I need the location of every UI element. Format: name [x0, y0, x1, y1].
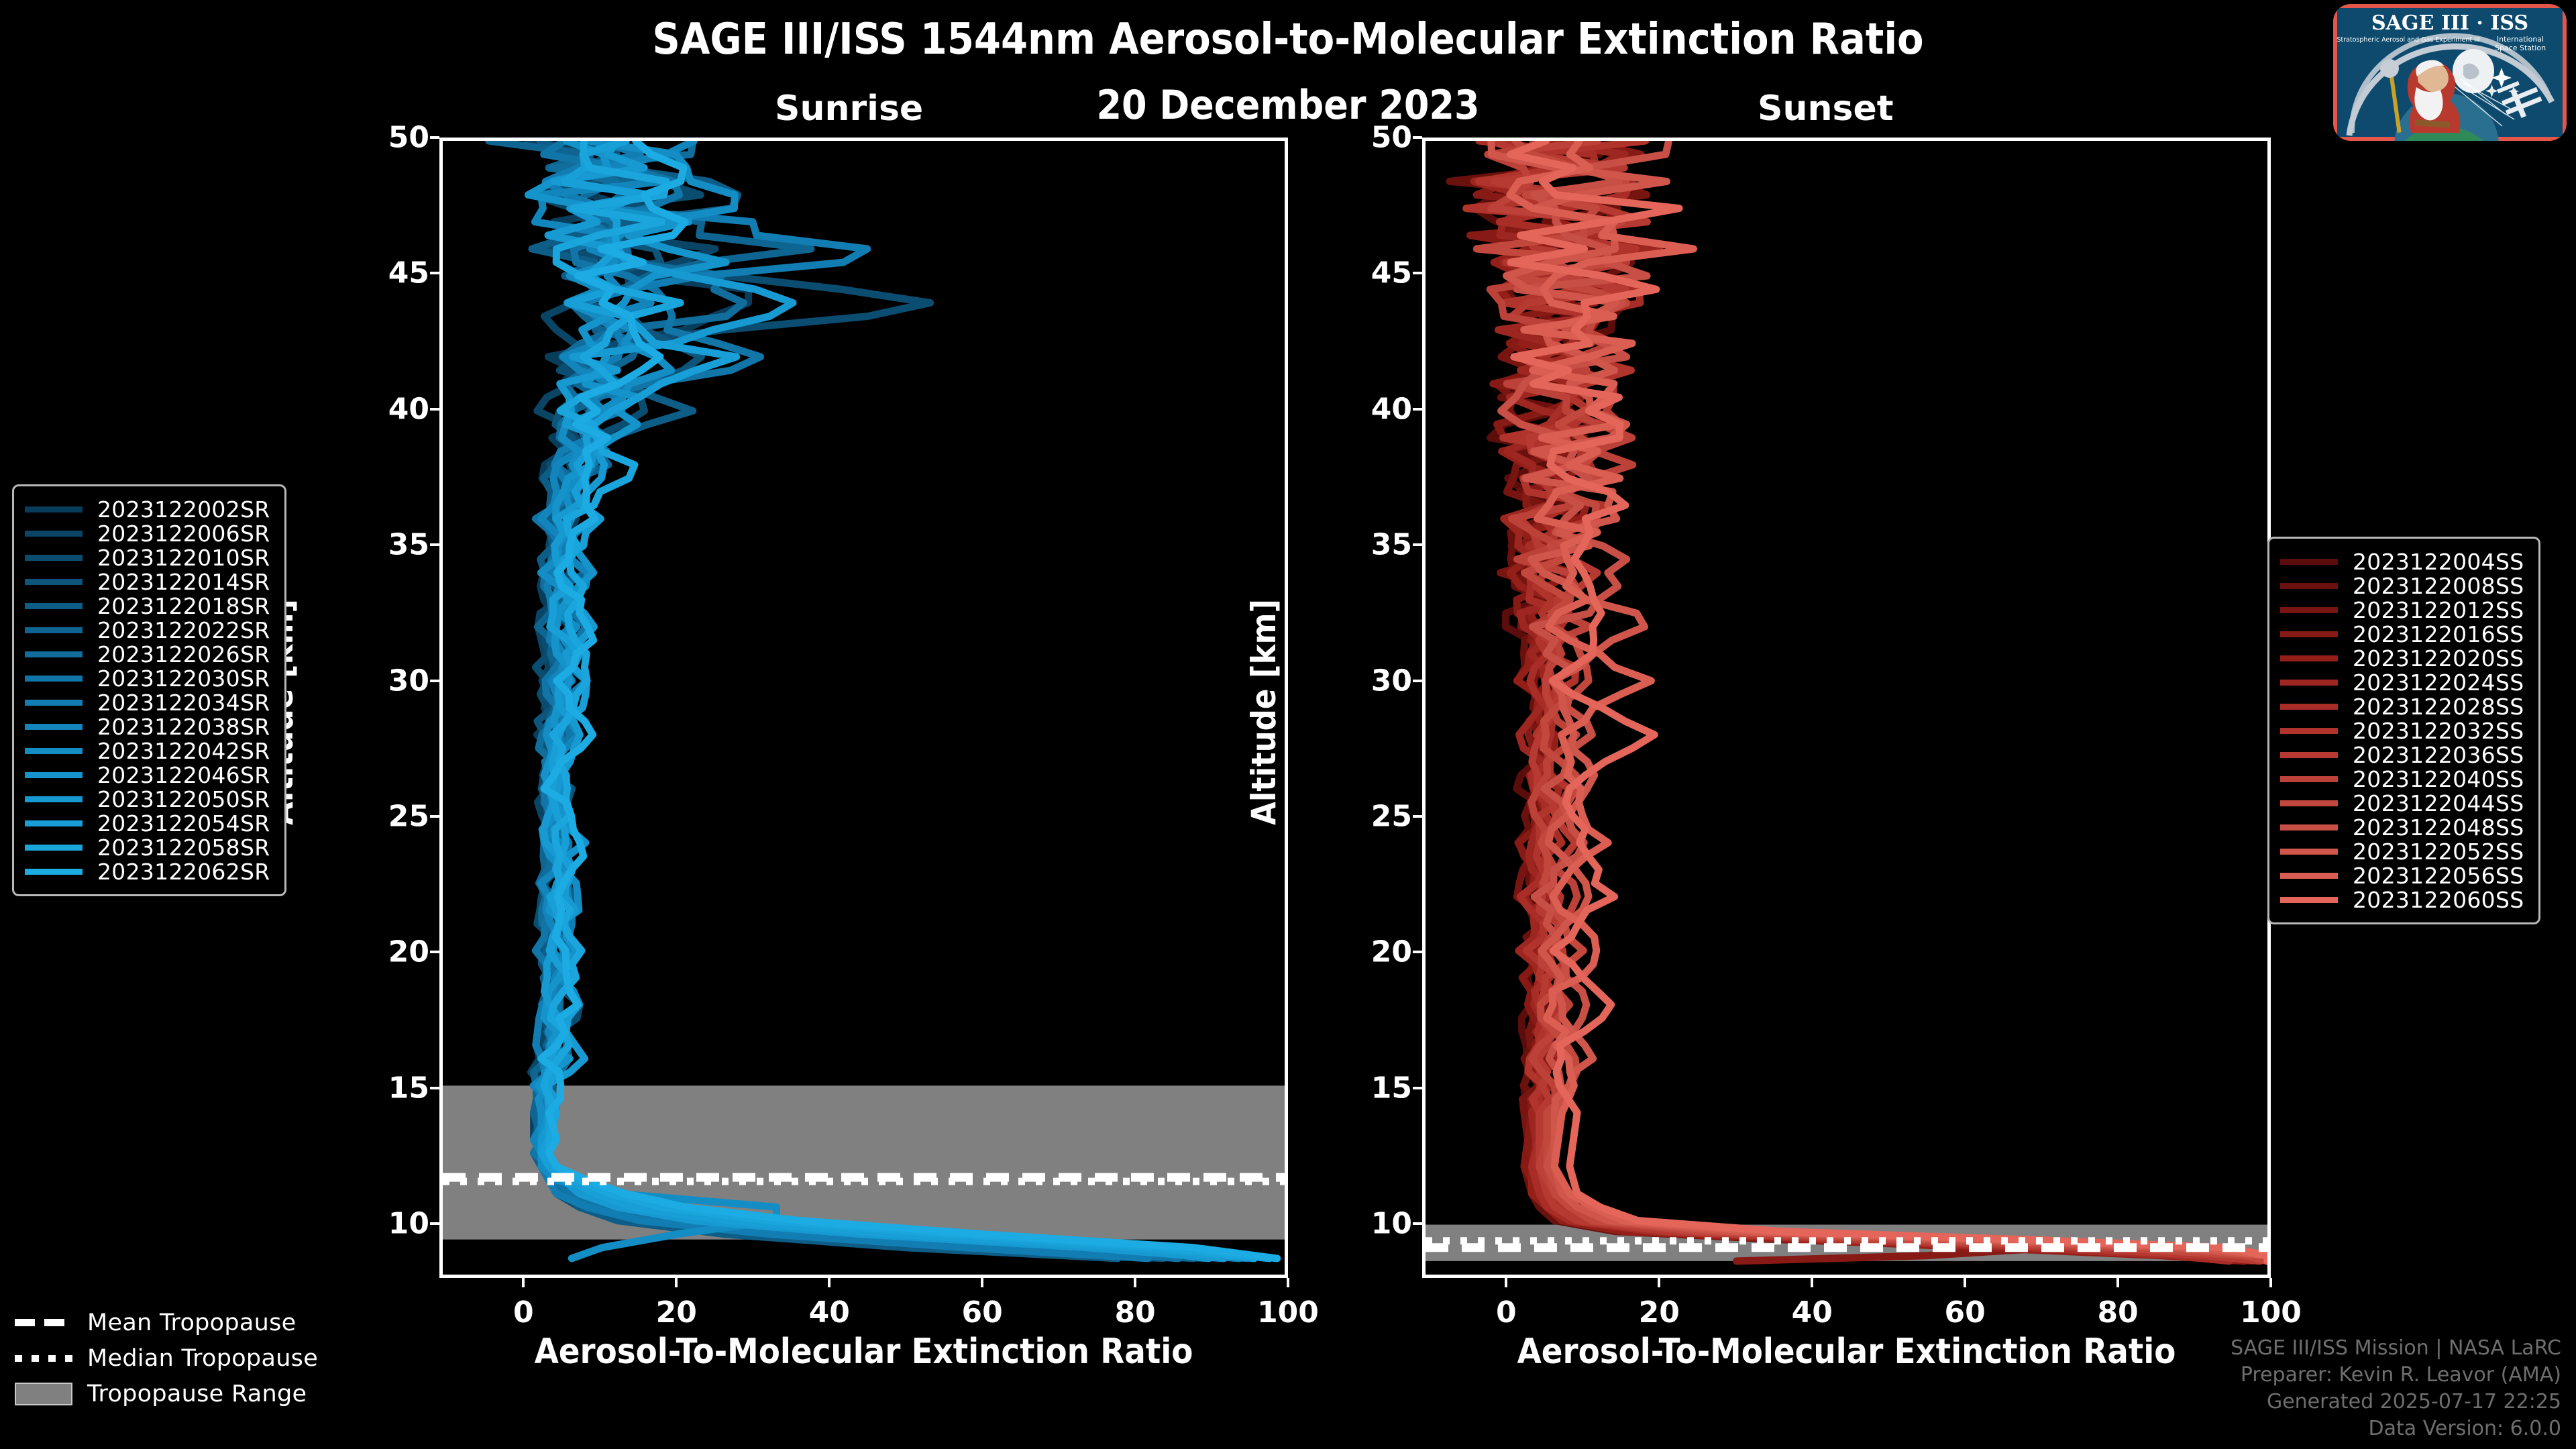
legend-item-label: 2023122044SS — [2353, 790, 2524, 816]
xtick-mark — [2269, 1278, 2272, 1287]
legend-color-swatch — [25, 796, 83, 802]
legend-color-swatch — [25, 603, 83, 609]
ytick-mark — [430, 815, 439, 818]
legend-sunrise-item[interactable]: 2023122030SR — [25, 666, 270, 690]
legend-item-label: 2023122060SS — [2353, 887, 2524, 913]
legend-sunset-item[interactable]: 2023122024SS — [2280, 670, 2524, 694]
legend-tropopause-item: Mean Tropopause — [15, 1305, 318, 1340]
ytick-label: 50 — [1348, 121, 1412, 155]
xaxis-title-sunset: Aerosol-To-Molecular Extinction Ratio — [1422, 1332, 2271, 1372]
legend-color-swatch — [25, 700, 83, 706]
xtick-label: 20 — [1639, 1295, 1680, 1330]
legend-sunset[interactable]: 2023122004SS2023122008SS2023122012SS2023… — [2267, 537, 2540, 924]
xtick-label: 80 — [1114, 1295, 1155, 1330]
legend-color-swatch — [2280, 728, 2338, 734]
xtick-mark — [522, 1278, 525, 1287]
legend-item-label: 2023122028SS — [2353, 694, 2524, 720]
ytick-label: 30 — [1348, 663, 1412, 698]
legend-sunrise-item[interactable]: 2023122058SR — [25, 835, 270, 859]
xtick-label: 80 — [2097, 1295, 2138, 1330]
ytick-label: 20 — [1348, 935, 1412, 969]
panel-label-sunrise: Sunrise — [775, 89, 923, 129]
legend-sunset-item[interactable]: 2023122052SS — [2280, 839, 2524, 863]
legend-color-swatch — [2280, 849, 2338, 855]
legend-item-label: 2023122020SS — [2353, 645, 2524, 672]
legend-color-swatch — [2280, 800, 2338, 806]
ytick-mark — [1413, 951, 1422, 953]
legend-item-label: 2023122050SR — [97, 786, 270, 812]
ytick-label: 40 — [1348, 392, 1412, 426]
ytick-label: 35 — [366, 528, 429, 562]
legend-color-swatch — [2280, 776, 2338, 782]
legend-color-swatch — [25, 724, 83, 730]
legend-tropopause: Mean TropopauseMedian TropopauseTropopau… — [15, 1305, 318, 1411]
ytick-label: 15 — [1348, 1071, 1412, 1105]
legend-sunrise-item[interactable]: 2023122014SR — [25, 570, 270, 594]
ytick-mark — [430, 1087, 439, 1089]
legend-color-swatch — [25, 748, 83, 754]
legend-box-swatch — [15, 1383, 72, 1405]
xtick-mark — [1811, 1278, 1813, 1287]
xtick-label: 20 — [656, 1295, 697, 1330]
legend-item-label: 2023122010SR — [97, 545, 270, 571]
legend-item-label: 2023122022SR — [97, 617, 270, 643]
legend-color-swatch — [25, 579, 83, 585]
legend-item-label: 2023122030SR — [97, 665, 270, 692]
ytick-mark — [430, 680, 439, 682]
xtick-label: 0 — [513, 1295, 534, 1330]
xtick-mark — [1505, 1278, 1507, 1287]
legend-color-swatch — [25, 869, 83, 875]
xtick-label: 0 — [1496, 1295, 1517, 1330]
legend-item-label: 2023122042SR — [97, 738, 270, 764]
legend-color-swatch — [25, 676, 83, 682]
ytick-mark — [430, 136, 439, 139]
legend-sunset-item[interactable]: 2023122012SS — [2280, 598, 2524, 622]
legend-item-label: 2023122040SS — [2353, 766, 2524, 792]
ytick-mark — [1413, 272, 1422, 274]
legend-sunset-item[interactable]: 2023122028SS — [2280, 694, 2524, 718]
legend-sunset-item[interactable]: 2023122036SS — [2280, 743, 2524, 767]
page-title: SAGE III/ISS 1544nm Aerosol-to-Molecular… — [0, 15, 2576, 64]
legend-sunset-item[interactable]: 2023122044SS — [2280, 791, 2524, 815]
legend-sunrise-item[interactable]: 2023122042SR — [25, 739, 270, 763]
plot-area-sunset — [1422, 138, 2271, 1278]
legend-item-label: 2023122024SS — [2353, 669, 2524, 696]
legend-item-label: 2023122038SR — [97, 714, 270, 740]
legend-color-swatch — [2280, 873, 2338, 879]
legend-item-label: 2023122032SS — [2353, 718, 2524, 744]
legend-sunrise[interactable]: 2023122002SR2023122006SR2023122010SR2023… — [12, 484, 286, 896]
footer-line-generated: Generated 2025-07-17 22:25 — [2231, 1389, 2561, 1415]
legend-item-label: 2023122012SS — [2353, 597, 2524, 623]
legend-sunrise-item[interactable]: 2023122034SR — [25, 690, 270, 714]
xtick-label: 100 — [1257, 1295, 1319, 1330]
legend-sunrise-item[interactable]: 2023122006SR — [25, 521, 270, 545]
xtick-mark — [1134, 1278, 1136, 1287]
xtick-mark — [675, 1278, 678, 1287]
ytick-label: 35 — [1348, 528, 1412, 562]
legend-item-label: 2023122008SS — [2353, 573, 2524, 599]
xtick-label: 40 — [1792, 1295, 1833, 1330]
legend-item-label: 2023122052SS — [2353, 839, 2524, 865]
ytick-label: 45 — [1348, 256, 1412, 290]
legend-item-label: 2023122016SS — [2353, 621, 2524, 647]
legend-sunrise-item[interactable]: 2023122046SR — [25, 763, 270, 787]
legend-item-label: Mean Tropopause — [87, 1309, 297, 1336]
legend-item-label: 2023122062SR — [97, 859, 270, 885]
ytick-mark — [1413, 408, 1422, 411]
legend-color-swatch — [2280, 704, 2338, 710]
legend-tropopause-item: Tropopause Range — [15, 1376, 318, 1411]
legend-sunrise-item[interactable]: 2023122026SR — [25, 642, 270, 666]
ytick-label: 10 — [1348, 1207, 1412, 1241]
footer-line-mission: SAGE III/ISS Mission | NASA LaRC — [2231, 1335, 2561, 1362]
xtick-mark — [1287, 1278, 1289, 1287]
legend-sunrise-item[interactable]: 2023122010SR — [25, 545, 270, 570]
legend-sunrise-item[interactable]: 2023122022SR — [25, 618, 270, 642]
legend-sunrise-item[interactable]: 2023122038SR — [25, 714, 270, 739]
xtick-label: 100 — [2240, 1295, 2302, 1330]
ytick-label: 15 — [366, 1071, 429, 1105]
legend-color-swatch — [25, 627, 83, 633]
ytick-label: 25 — [1348, 799, 1412, 833]
legend-color-swatch — [25, 651, 83, 657]
legend-color-swatch — [25, 531, 83, 537]
xtick-mark — [2116, 1278, 2119, 1287]
legend-color-swatch — [2280, 655, 2338, 661]
legend-color-swatch — [25, 555, 83, 561]
ytick-mark — [430, 408, 439, 411]
legend-item-label: 2023122006SR — [97, 521, 270, 547]
legend-color-swatch — [25, 820, 83, 826]
legend-sunset-item[interactable]: 2023122032SS — [2280, 718, 2524, 743]
legend-item-label: 2023122026SR — [97, 641, 270, 667]
ytick-mark — [1413, 136, 1422, 139]
legend-item-label: 2023122058SR — [97, 835, 270, 861]
ytick-label: 45 — [366, 256, 429, 290]
legend-item-label: 2023122054SR — [97, 810, 270, 837]
ytick-mark — [1413, 680, 1422, 682]
yaxis-title-sunset: Altitude [km] — [1244, 599, 1283, 825]
legend-dashed-swatch — [15, 1319, 72, 1326]
svg-text:International: International — [2497, 35, 2544, 44]
legend-color-swatch — [25, 772, 83, 778]
ytick-mark — [1413, 543, 1422, 546]
legend-sunrise-item[interactable]: 2023122054SR — [25, 811, 270, 835]
legend-sunrise-item[interactable]: 2023122002SR — [25, 497, 270, 521]
plot-area-sunrise — [439, 138, 1288, 1278]
legend-dotted-swatch — [15, 1355, 72, 1362]
tropopause-range-band — [443, 1085, 1285, 1239]
legend-sunrise-item[interactable]: 2023122018SR — [25, 594, 270, 618]
legend-sunset-item[interactable]: 2023122048SS — [2280, 815, 2524, 839]
legend-sunset-item[interactable]: 2023122004SS — [2280, 549, 2524, 574]
sage-iii-iss-mission-logo: SAGE III · ISS Stratospheric Aerosol and… — [2329, 1, 2571, 142]
xtick-mark — [1964, 1278, 1966, 1287]
ytick-mark — [430, 1222, 439, 1225]
legend-item-label: 2023122034SR — [97, 690, 270, 716]
legend-sunset-item[interactable]: 2023122020SS — [2280, 646, 2524, 670]
legend-color-swatch — [2280, 631, 2338, 637]
legend-item-label: 2023122046SR — [97, 762, 270, 788]
legend-sunrise-item[interactable]: 2023122050SR — [25, 787, 270, 811]
legend-color-swatch — [2280, 824, 2338, 830]
legend-item-label: 2023122014SR — [97, 569, 270, 595]
legend-sunset-item[interactable]: 2023122056SS — [2280, 863, 2524, 888]
profile-line — [1501, 141, 2267, 1261]
legend-sunrise-item[interactable]: 2023122062SR — [25, 859, 270, 883]
xtick-label: 60 — [962, 1295, 1003, 1330]
logo-title: SAGE III · ISS — [2371, 11, 2528, 35]
legend-color-swatch — [25, 506, 83, 513]
legend-item-label: 2023122004SS — [2353, 549, 2524, 575]
legend-tropopause-item: Median Tropopause — [15, 1340, 318, 1376]
legend-item-label: 2023122002SR — [97, 496, 270, 523]
legend-item-label: Tropopause Range — [87, 1381, 307, 1407]
xaxis-title-sunrise: Aerosol-To-Molecular Extinction Ratio — [439, 1332, 1288, 1372]
ytick-label: 20 — [366, 935, 429, 969]
legend-color-swatch — [25, 845, 83, 851]
ytick-mark — [430, 543, 439, 546]
legend-color-swatch — [2280, 897, 2338, 903]
legend-color-swatch — [2280, 752, 2338, 758]
legend-color-swatch — [2280, 680, 2338, 686]
ytick-label: 40 — [366, 392, 429, 426]
ytick-label: 30 — [366, 663, 429, 698]
legend-color-swatch — [2280, 583, 2338, 589]
panel-label-sunset: Sunset — [1758, 89, 1894, 129]
ytick-mark — [430, 951, 439, 953]
ytick-label: 50 — [366, 121, 429, 155]
xtick-label: 40 — [809, 1295, 850, 1330]
legend-sunset-item[interactable]: 2023122040SS — [2280, 767, 2524, 791]
footer-credits: SAGE III/ISS Mission | NASA LaRC Prepare… — [2231, 1335, 2561, 1442]
xtick-label: 60 — [1945, 1295, 1986, 1330]
legend-sunset-item[interactable]: 2023122016SS — [2280, 622, 2524, 646]
legend-sunset-item[interactable]: 2023122008SS — [2280, 574, 2524, 598]
ytick-mark — [1413, 1222, 1422, 1225]
legend-sunset-item[interactable]: 2023122060SS — [2280, 888, 2524, 912]
ytick-mark — [1413, 815, 1422, 818]
logo-subtitle: Stratospheric Aerosol and Gas Experiment… — [2337, 36, 2479, 44]
legend-item-label: 2023122056SS — [2353, 863, 2524, 889]
xtick-mark — [981, 1278, 983, 1287]
ytick-mark — [430, 272, 439, 274]
xtick-mark — [828, 1278, 830, 1287]
svg-text:Space Station: Space Station — [2495, 44, 2546, 52]
legend-item-label: 2023122018SR — [97, 593, 270, 619]
footer-line-version: Data Version: 6.0.0 — [2231, 1415, 2561, 1442]
legend-color-swatch — [2280, 559, 2338, 565]
ytick-label: 10 — [366, 1207, 429, 1241]
legend-color-swatch — [2280, 607, 2338, 613]
legend-item-label: 2023122036SS — [2353, 742, 2524, 768]
ytick-label: 25 — [366, 799, 429, 833]
legend-item-label: 2023122048SS — [2353, 814, 2524, 841]
xtick-mark — [1658, 1278, 1660, 1287]
legend-item-label: Median Tropopause — [87, 1345, 318, 1372]
ytick-mark — [1413, 1087, 1422, 1089]
footer-line-preparer: Preparer: Kevin R. Leavor (AMA) — [2231, 1362, 2561, 1389]
